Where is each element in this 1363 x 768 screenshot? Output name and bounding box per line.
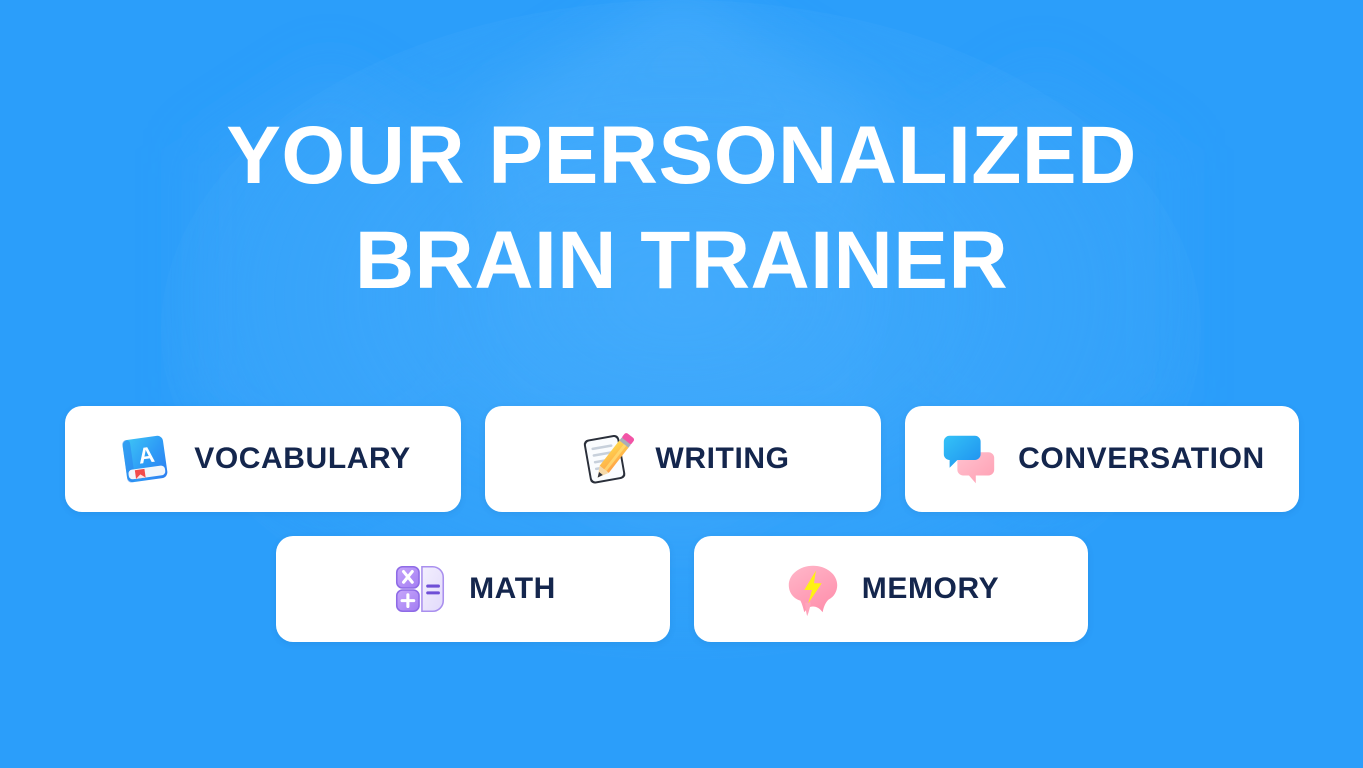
blue-book-icon: A [114, 428, 176, 490]
category-row-2: MATH [276, 536, 1088, 642]
category-row-1: A VOCABULARY [65, 406, 1299, 512]
promo-screen: YOUR PERSONALIZED BRAIN TRAINER [0, 0, 1363, 768]
category-card-memory[interactable]: MEMORY [694, 536, 1088, 642]
category-label-conversation: CONVERSATION [1018, 442, 1265, 476]
category-label-vocabulary: VOCABULARY [194, 442, 411, 476]
memo-pencil-icon [575, 428, 637, 490]
headline-line-1: YOUR PERSONALIZED [226, 104, 1137, 209]
svg-text:A: A [137, 442, 156, 469]
category-label-memory: MEMORY [862, 572, 1000, 606]
category-card-grid: A VOCABULARY [65, 406, 1299, 642]
category-card-vocabulary[interactable]: A VOCABULARY [65, 406, 461, 512]
category-card-writing[interactable]: WRITING [485, 406, 881, 512]
category-label-writing: WRITING [655, 442, 789, 476]
headline-line-2: BRAIN TRAINER [226, 209, 1137, 314]
category-card-conversation[interactable]: CONVERSATION [905, 406, 1299, 512]
category-label-math: MATH [469, 572, 556, 606]
speech-bubbles-icon [938, 428, 1000, 490]
calculator-keys-icon [389, 558, 451, 620]
category-card-math[interactable]: MATH [276, 536, 670, 642]
brain-bolt-icon [782, 558, 844, 620]
page-title: YOUR PERSONALIZED BRAIN TRAINER [226, 104, 1137, 314]
